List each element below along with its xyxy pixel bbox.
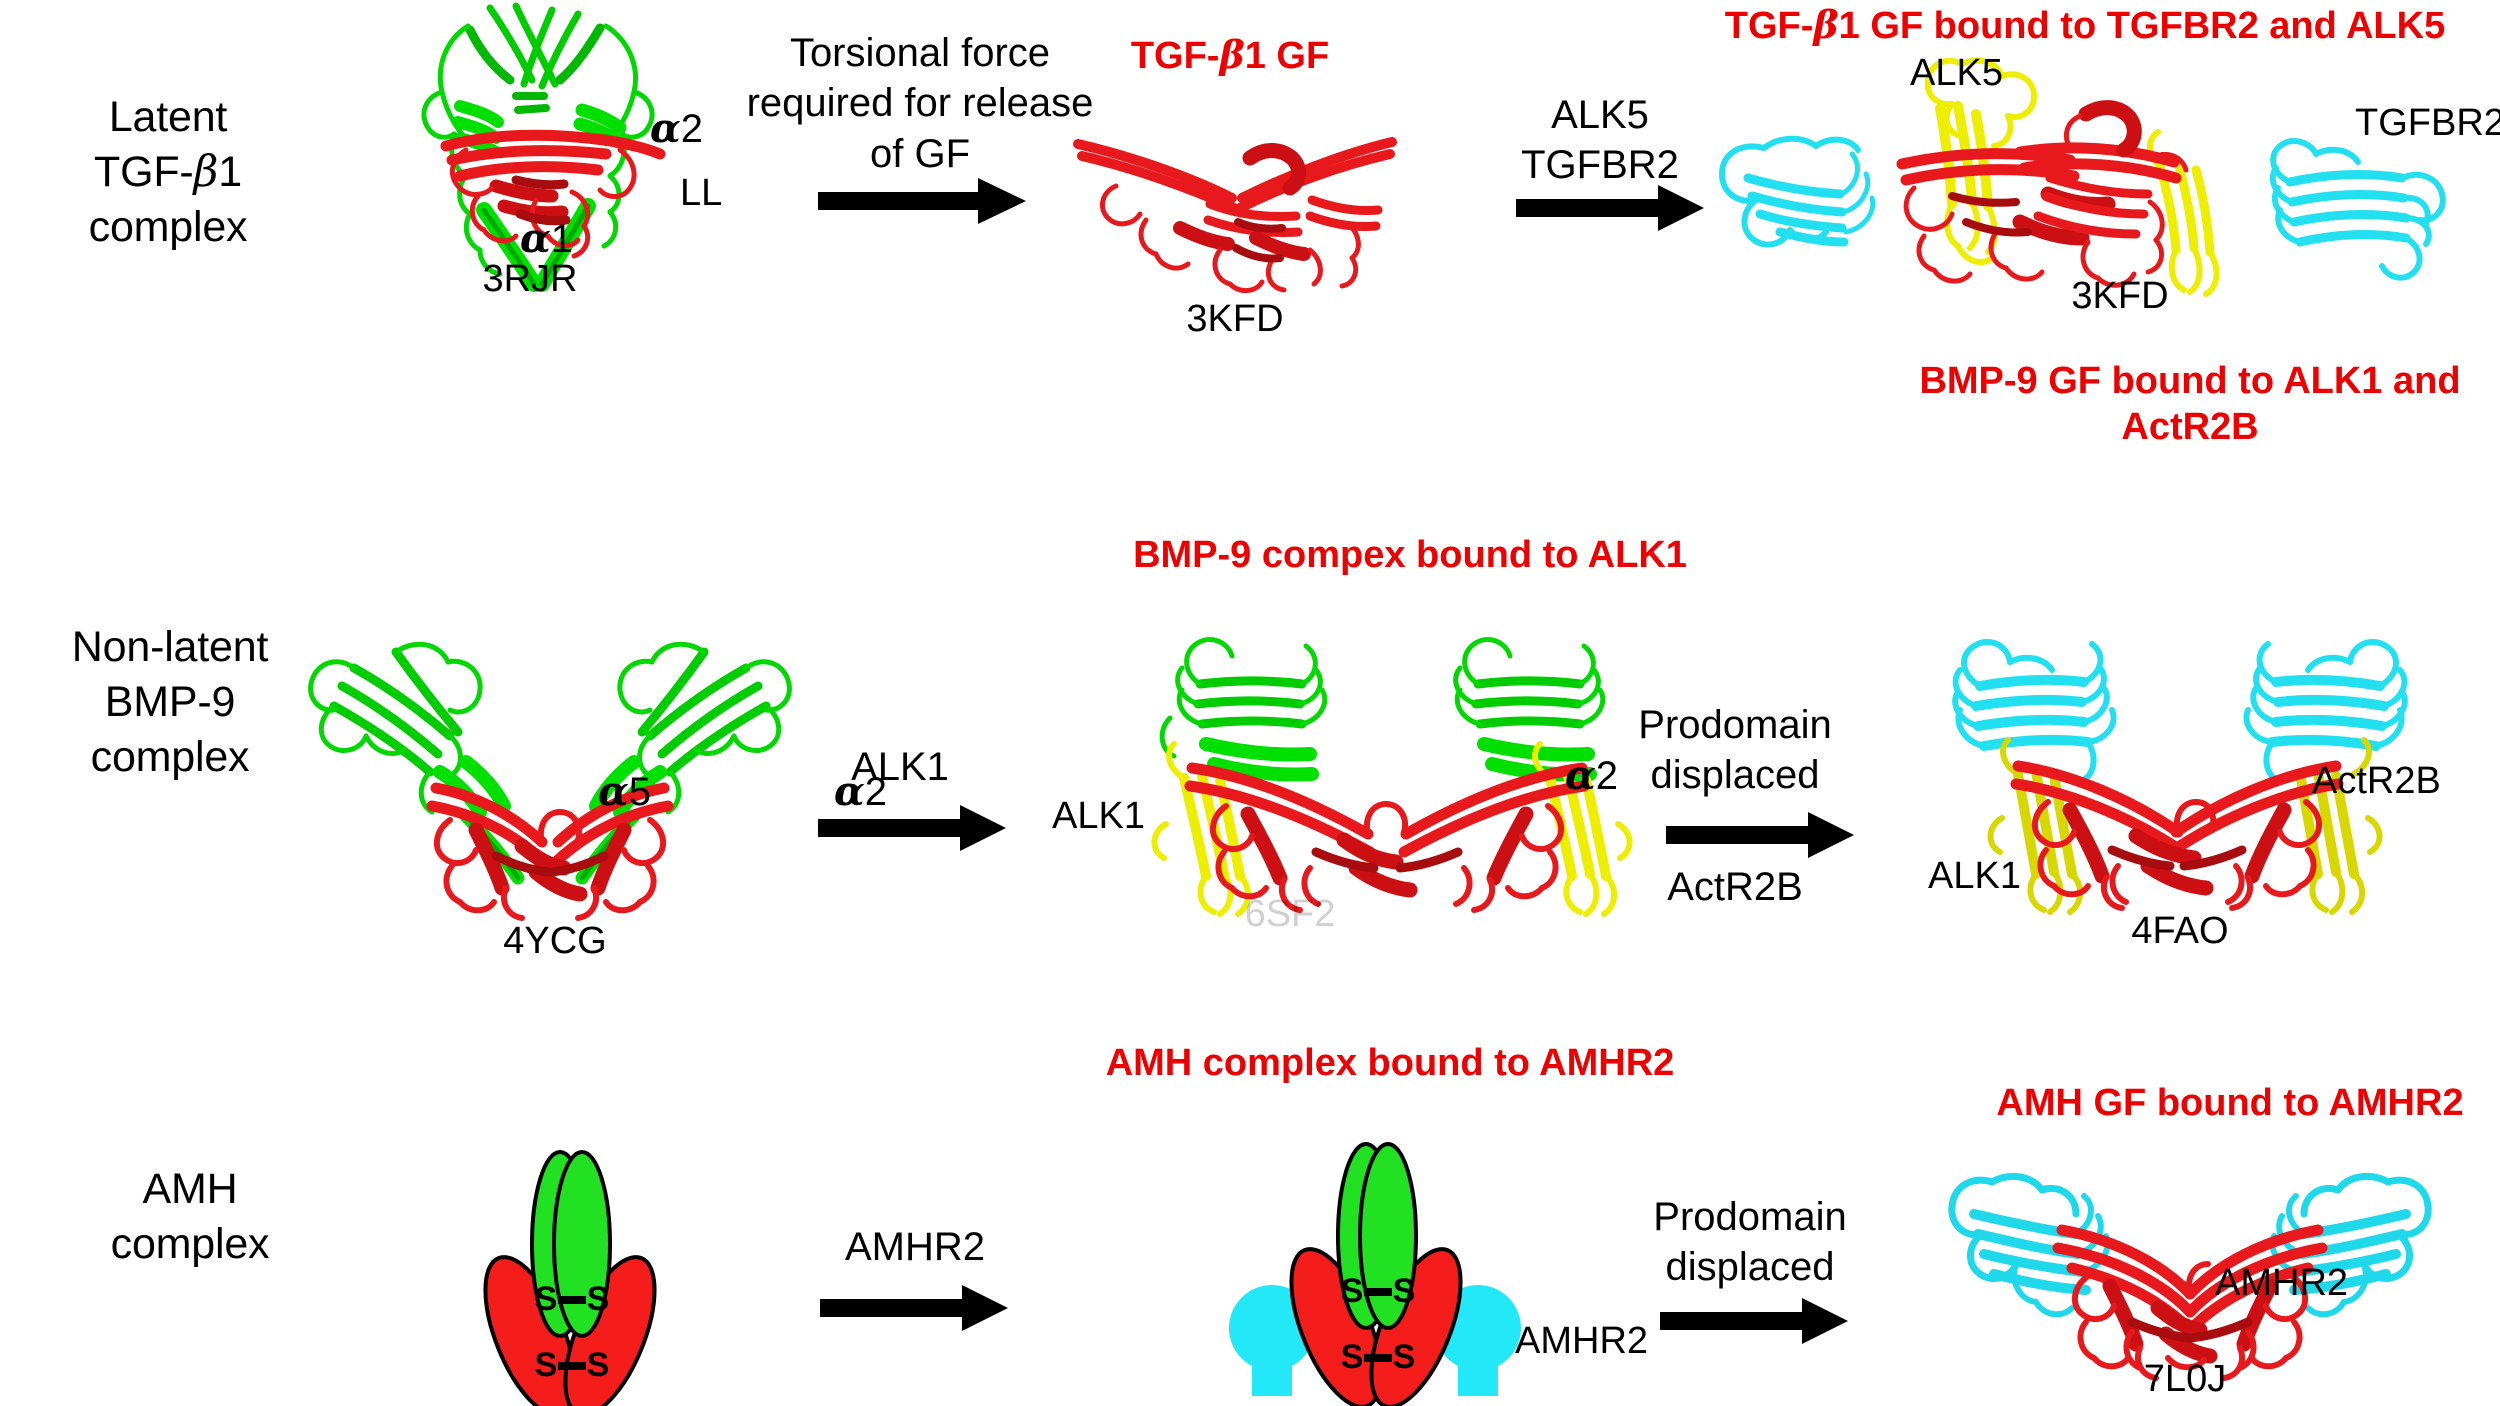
row-label-nonlatent-bmp9: Non-latent BMP-9 complex [10, 620, 330, 785]
beta-glyph: β [1219, 32, 1244, 77]
arrow-torsional-force [818, 178, 1028, 224]
one-glyph: 1 [218, 148, 242, 196]
arrow-prodomain-actr2b [1666, 812, 1856, 858]
ribbon-4ycg [290, 620, 810, 920]
arrow-label-line-2: displaced [1610, 1242, 1890, 1292]
panel-title-bmp9-gf-alk1-actr2b: BMP-9 GF bound to ALK1 and ActR2B [1880, 358, 2500, 451]
ribbon-7l0j [1910, 1158, 2470, 1388]
arrow-label-line-1: Torsional force [740, 28, 1100, 78]
row-label-line-3: complex [10, 730, 330, 785]
beta-glyph: β [194, 147, 219, 197]
title-prefix: TGF- [1725, 5, 1814, 47]
label-alpha2-3rjr: α2 [650, 105, 703, 152]
svg-text:S: S [1341, 1272, 1364, 1310]
pdb-code-3kfd-complex: 3KFD [2010, 275, 2230, 318]
arrow-prodomain-displaced [1660, 1298, 1850, 1344]
arrow-label-line-2: TGFBR2 [1480, 140, 1720, 190]
label-amhr2-schematic: AMHR2 [1515, 1320, 1648, 1363]
arrow-label-amhr2: AMHR2 [800, 1222, 1030, 1272]
pdb-code-4fao: 4FAO [2070, 910, 2290, 953]
arrow-label-line-2: displaced [1590, 750, 1880, 800]
svg-text:S: S [1393, 1338, 1416, 1376]
panel-tgfb1-gf-receptors-structure [1690, 46, 2480, 306]
row-label-line-1: Non-latent [10, 620, 330, 675]
figure-canvas: Latent TGF-β1 complex [0, 0, 2500, 1406]
alpha-number: 1 [551, 217, 573, 261]
schematic-amh-complex: S S S S [420, 1140, 720, 1406]
pdb-code-6sf2: 6SF2 [1180, 893, 1400, 936]
arrow-label-prodomain-displaced: Prodomain displaced [1610, 1192, 1890, 1293]
svg-text:S: S [535, 1280, 558, 1318]
svg-text:S: S [1393, 1272, 1416, 1310]
alpha-glyph: α [650, 105, 681, 152]
title-line-1: BMP-9 GF bound to ALK1 and [1880, 358, 2500, 404]
label-ll-3rjr: LL [680, 172, 722, 215]
tgfb1-prefix: TGF- [94, 148, 194, 196]
label-alpha1-3rjr: α1 [520, 215, 573, 262]
alpha-number: 2 [681, 107, 703, 151]
svg-text:S: S [1341, 1338, 1364, 1376]
svg-text:S: S [535, 1346, 558, 1384]
panel-title-tgfb1-gf-receptors: TGF-β1 GF bound to TGFBR2 and ALK5 [1680, 2, 2490, 49]
row-label-line-1: AMH [40, 1162, 340, 1217]
ribbon-3kfd-complex [1690, 46, 2480, 306]
label-amhr2-7l0j: AMHR2 [2215, 1262, 2348, 1305]
schematic-amh-amhr2: S S S S [1190, 1130, 1610, 1406]
arrow-label-actr2b: ActR2B [1590, 862, 1880, 912]
pdb-code-3kfd-gf: 3KFD [1125, 298, 1345, 341]
panel-amh-complex-schematic: S S S S [420, 1140, 720, 1406]
row-label-line-2: complex [40, 1217, 340, 1272]
arrow-label-line-2: required for release [740, 78, 1100, 128]
alpha-glyph: α [598, 768, 629, 815]
label-alk1-6sf2: ALK1 [1052, 795, 1145, 838]
row-label-line-2: TGF-β1 [18, 145, 318, 200]
alpha-glyph: α [520, 215, 551, 262]
arrow-label-line-1: ALK1 [800, 742, 1000, 792]
alpha-number: 5 [629, 770, 651, 814]
pdb-code-3rjr: 3RJR [420, 258, 640, 301]
panel-title-tgfb1-gf: TGF-β1 GF [1060, 32, 1400, 79]
row-label-line-1: Latent [18, 90, 318, 145]
panel-amh-gf-amhr2-structure [1910, 1158, 2470, 1388]
label-alpha5-4ycg: α5 [598, 768, 651, 815]
ribbon-3kfd-gf [1060, 100, 1410, 300]
panel-title-bmp9-alk1: BMP-9 compex bound to ALK1 [1060, 532, 1760, 578]
label-alk1-4fao: ALK1 [1928, 855, 2021, 898]
arrow-label-prodomain-displaced-actr2b: Prodomain displaced [1590, 700, 1880, 801]
pdb-code-7l0j: 7L0J [2075, 1358, 2295, 1401]
label-actr2b-4fao: ActR2B [2312, 760, 2441, 803]
arrow-label-line-1: ALK5 [1480, 90, 1720, 140]
label-alk5-complex: ALK5 [1910, 52, 2003, 95]
arrow-label-alk5-tgfbr2: ALK5 TGFBR2 [1480, 90, 1720, 191]
arrow-label-torsional-force: Torsional force required for release of … [740, 28, 1100, 179]
beta-glyph: β [1813, 2, 1838, 47]
row-label-amh: AMH complex [40, 1162, 340, 1272]
title-prefix: TGF- [1131, 35, 1220, 77]
arrow-amhr2 [820, 1285, 1010, 1331]
title-suffix: 1 GF [1245, 35, 1329, 77]
title-line-2: ActR2B [1880, 404, 2500, 450]
label-tgfbr2-complex: TGFBR2 [2355, 102, 2500, 145]
row-label-line-2: BMP-9 [10, 675, 330, 730]
panel-title-amh-amhr2: AMH complex bound to AMHR2 [1040, 1040, 1740, 1086]
panel-amh-amhr2-schematic: S S S S [1190, 1130, 1610, 1406]
arrow-alk5-tgfbr2 [1516, 185, 1706, 231]
panel-tgfb1-gf-structure [1060, 100, 1410, 300]
svg-text:S: S [587, 1280, 610, 1318]
panel-nonlatent-bmp9-structure [290, 620, 810, 920]
arrow-label-line-1: Prodomain [1590, 700, 1880, 750]
arrow-alk1 [818, 805, 1008, 851]
row-label-line-3: complex [18, 200, 318, 255]
svg-text:S: S [587, 1346, 610, 1384]
arrow-label-line-1: Prodomain [1610, 1192, 1890, 1242]
arrow-label-line-3: of GF [740, 129, 1100, 179]
arrow-label-alk1: ALK1 [800, 742, 1000, 792]
panel-title-amh-gf-amhr2: AMH GF bound to AMHR2 [1960, 1080, 2500, 1126]
pdb-code-4ycg: 4YCG [445, 920, 665, 963]
title-suffix: 1 GF bound to TGFBR2 and ALK5 [1839, 5, 2446, 47]
row-label-latent-tgfb1: Latent TGF-β1 complex [18, 90, 318, 255]
